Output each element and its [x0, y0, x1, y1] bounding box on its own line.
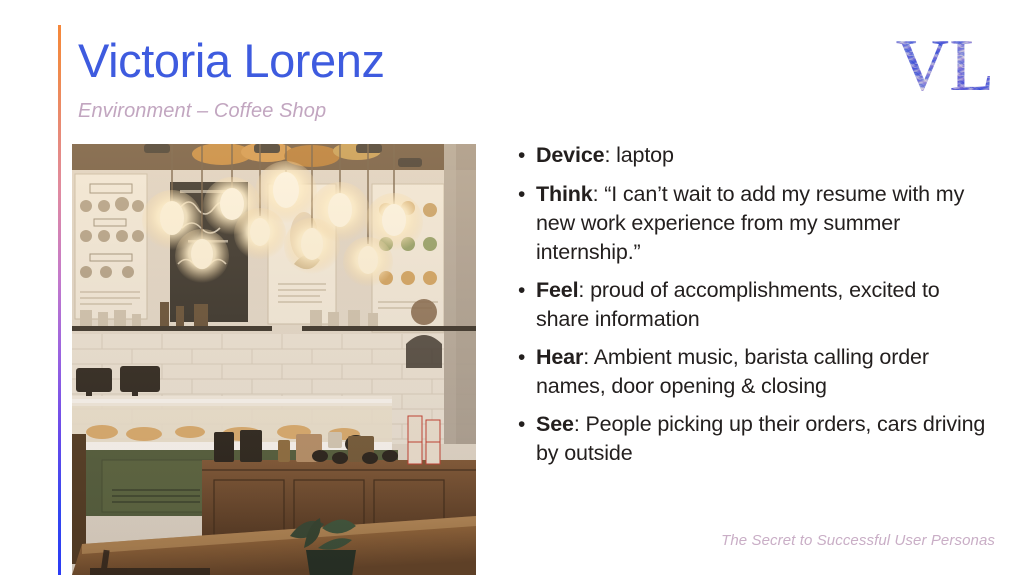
list-item-text: See: People picking up their orders, car…: [536, 410, 992, 468]
list-item-separator: :: [574, 412, 586, 436]
list-item-value: People picking up their orders, cars dri…: [536, 412, 985, 465]
page-title: Victoria Lorenz: [78, 36, 385, 86]
page-subtitle: Environment – Coffee Shop: [78, 100, 326, 123]
vl-monogram-logo: VL: [895, 24, 995, 108]
coffee-shop-photo: [72, 144, 476, 575]
list-item: • Think: “I can’t wait to add my resume …: [512, 180, 992, 267]
list-item-text: Feel: proud of accomplishments, excited …: [536, 276, 992, 334]
list-item-value: proud of accomplishments, excited to sha…: [536, 278, 940, 331]
footer-text: The Secret to Successful User Personas: [721, 532, 995, 549]
list-item: • Hear: Ambient music, barista calling o…: [512, 343, 992, 401]
list-item-separator: :: [583, 345, 593, 369]
list-item-value: Ambient music, barista calling order nam…: [536, 345, 929, 398]
list-item-label: Hear: [536, 345, 583, 369]
list-item-separator: :: [578, 278, 590, 302]
bullet-marker-icon: •: [512, 180, 536, 210]
list-item-separator: :: [593, 182, 605, 206]
list-item-text: Device: laptop: [536, 141, 992, 170]
list-item-label: Feel: [536, 278, 578, 302]
list-item-label: See: [536, 412, 574, 436]
list-item-text: Think: “I can’t wait to add my resume wi…: [536, 180, 992, 267]
bullet-marker-icon: •: [512, 276, 536, 306]
list-item: • Feel: proud of accomplishments, excite…: [512, 276, 992, 334]
persona-detail-list: • Device: laptop • Think: “I can’t wait …: [512, 141, 992, 477]
bullet-marker-icon: •: [512, 343, 536, 373]
list-item-label: Think: [536, 182, 593, 206]
slide-canvas: Victoria Lorenz Environment – Coffee Sho…: [0, 0, 1023, 575]
left-gradient-accent-bar: [58, 25, 61, 575]
list-item: • See: People picking up their orders, c…: [512, 410, 992, 468]
list-item-value: laptop: [616, 143, 674, 167]
bullet-marker-icon: •: [512, 141, 536, 171]
list-item-text: Hear: Ambient music, barista calling ord…: [536, 343, 992, 401]
list-item: • Device: laptop: [512, 141, 992, 171]
bullet-marker-icon: •: [512, 410, 536, 440]
list-item-label: Device: [536, 143, 604, 167]
list-item-separator: :: [604, 143, 616, 167]
